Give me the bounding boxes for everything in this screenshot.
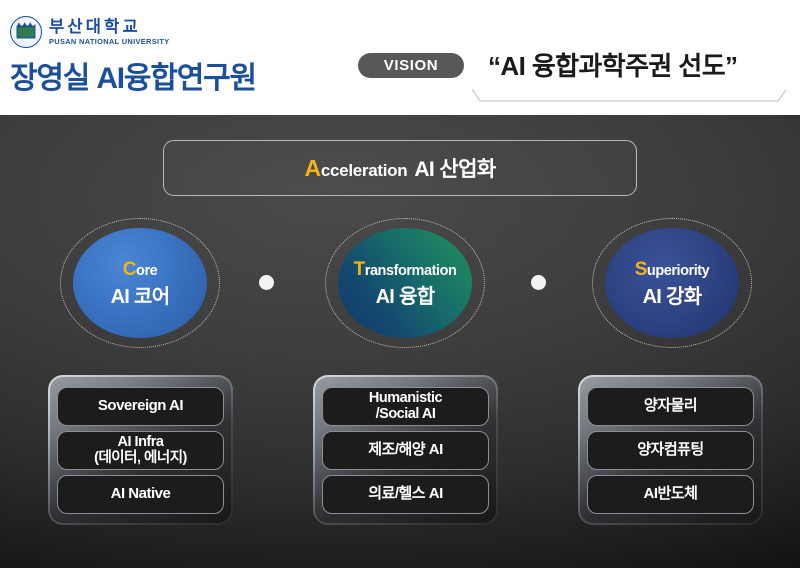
pillar-circle-transformation[interactable]: Transformation AI 융합	[325, 218, 485, 348]
orb-transformation-korean: AI 융합	[376, 287, 435, 307]
acceleration-banner: AccelerationAI 산업화	[163, 140, 637, 196]
pillar-circle-core[interactable]: Core AI 코어	[60, 218, 220, 348]
panel-core: Sovereign AI AI Infra (데이터, 에너지) AI Nati…	[48, 375, 233, 525]
pillar-circle-superiority[interactable]: Superiority AI 강화	[592, 218, 752, 348]
acceleration-text: AccelerationAI 산업화	[304, 153, 495, 183]
orb-core-english: Core	[123, 260, 158, 279]
university-seal-icon	[10, 16, 42, 48]
university-row: 부산대학교 PUSAN NATIONAL UNIVERSITY	[10, 14, 350, 50]
chip-transformation-1[interactable]: Humanistic /Social AI	[322, 387, 489, 426]
chip-core-2[interactable]: AI Infra (데이터, 에너지)	[57, 431, 224, 470]
university-names: 부산대학교 PUSAN NATIONAL UNIVERSITY	[49, 19, 170, 45]
orb-transformation-cap-letter: T	[354, 259, 365, 280]
diagram-stage: AccelerationAI 산업화 Core AI 코어 Transforma…	[0, 115, 800, 568]
chip-core-3[interactable]: AI Native	[57, 475, 224, 514]
orb-transformation: Transformation AI 융합	[338, 228, 472, 338]
acceleration-korean: AI 산업화	[414, 158, 495, 181]
vision-badge: VISION	[358, 53, 464, 78]
university-name-ko: 부산대학교	[49, 19, 170, 36]
brand-block: 부산대학교 PUSAN NATIONAL UNIVERSITY 장영실 AI융합…	[10, 14, 350, 97]
orb-superiority-korean: AI 강화	[643, 287, 702, 307]
separator-dot-1	[259, 275, 274, 290]
orb-core-cap-letter: C	[123, 259, 136, 280]
chip-superiority-1[interactable]: 양자물리	[587, 387, 754, 426]
vision-underline-bracket	[470, 88, 788, 104]
institute-title: 장영실 AI융합연구원	[10, 53, 350, 97]
orb-core-word: ore	[136, 263, 157, 279]
chip-superiority-2[interactable]: 양자컴퓨팅	[587, 431, 754, 470]
orb-transformation-english: Transformation	[354, 260, 457, 279]
chip-transformation-3[interactable]: 의료/헬스 AI	[322, 475, 489, 514]
panel-superiority: 양자물리 양자컴퓨팅 AI반도체	[578, 375, 763, 525]
university-name-en: PUSAN NATIONAL UNIVERSITY	[49, 38, 170, 45]
chip-core-1[interactable]: Sovereign AI	[57, 387, 224, 426]
orb-superiority: Superiority AI 강화	[605, 228, 739, 338]
chip-superiority-3[interactable]: AI반도체	[587, 475, 754, 514]
orb-transformation-word: ransformation	[365, 263, 457, 279]
pillars-row: Core AI 코어 Transformation AI 융합 Superior…	[0, 218, 800, 518]
vision-quote: “AI 융합과학주권 선도”	[488, 46, 737, 83]
acceleration-cap-letter: A	[304, 155, 320, 181]
orb-superiority-word: uperiority	[647, 263, 709, 279]
orb-core-korean: AI 코어	[111, 287, 170, 307]
separator-dot-2	[531, 275, 546, 290]
orb-core: Core AI 코어	[73, 228, 207, 338]
panel-transformation: Humanistic /Social AI 제조/해양 AI 의료/헬스 AI	[313, 375, 498, 525]
chip-transformation-2[interactable]: 제조/해양 AI	[322, 431, 489, 470]
acceleration-word: cceleration	[321, 161, 407, 180]
page-header: 부산대학교 PUSAN NATIONAL UNIVERSITY 장영실 AI융합…	[0, 0, 800, 115]
orb-superiority-english: Superiority	[635, 260, 710, 279]
orb-superiority-cap-letter: S	[635, 259, 647, 280]
